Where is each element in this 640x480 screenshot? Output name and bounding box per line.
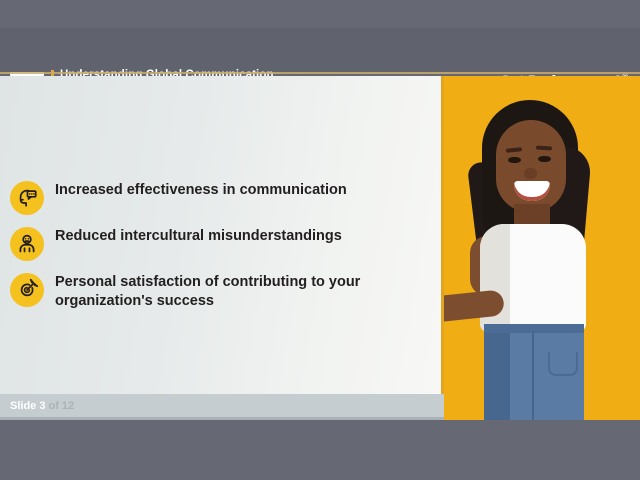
jeans-shadow xyxy=(484,324,510,420)
bullet-list: Increased effectiveness in communication… xyxy=(10,180,430,322)
list-item: Increased effectiveness in communication xyxy=(10,180,430,215)
jeans-waistband xyxy=(484,324,584,333)
eye-right xyxy=(538,156,551,162)
slide-footer-bar: Slide 3of 12 xyxy=(0,394,444,420)
jeans-pocket xyxy=(548,352,578,376)
person-user-icon xyxy=(10,227,44,261)
slide-viewer: Understanding Global Communication What'… xyxy=(0,0,640,480)
app-header: Understanding Global Communication What'… xyxy=(0,28,640,74)
nose xyxy=(524,168,537,179)
eye-left xyxy=(508,157,521,163)
slide-counter: Slide 3of 12 xyxy=(10,400,74,412)
target-bullseye-icon xyxy=(10,273,44,307)
list-item-label: Reduced intercultural misunderstandings xyxy=(55,226,342,246)
slide-counter-current: Slide 3 xyxy=(10,400,45,412)
slide-counter-total: of 12 xyxy=(48,400,74,412)
presenter-photo xyxy=(444,76,640,420)
slide-canvas: Increased effectiveness in communication… xyxy=(0,76,640,420)
list-item-label: Increased effectiveness in communication xyxy=(55,180,347,200)
list-item-label: Personal satisfaction of contributing to… xyxy=(55,272,430,311)
list-item: Reduced intercultural misunderstandings xyxy=(10,226,430,261)
jeans-seam xyxy=(532,332,534,420)
list-item: Personal satisfaction of contributing to… xyxy=(10,272,430,311)
head-speech-bubble-icon xyxy=(10,181,44,215)
